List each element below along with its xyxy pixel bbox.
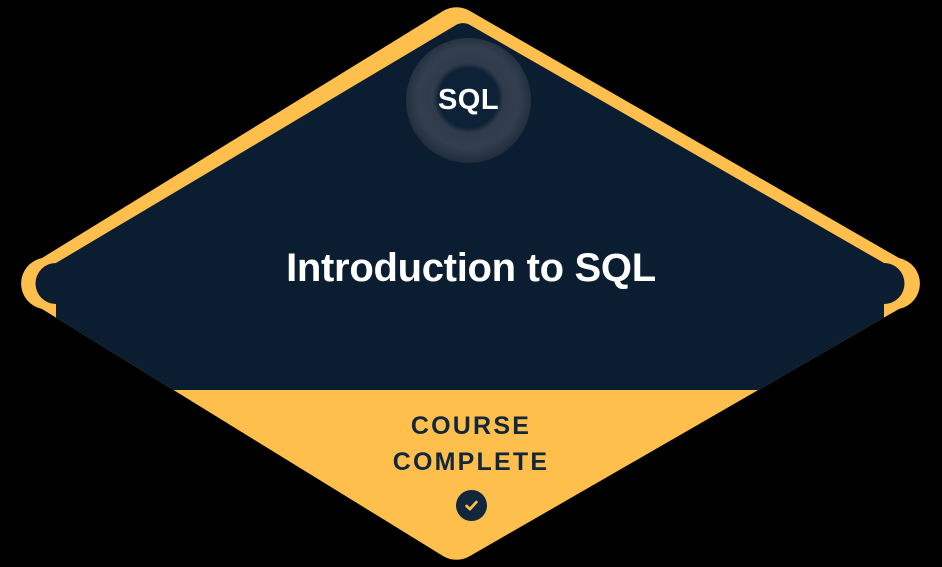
- completion-label-line-2: COMPLETE: [0, 444, 942, 480]
- completion-label-line-1: COURSE: [0, 408, 942, 444]
- sql-emblem: SQL: [406, 38, 531, 163]
- course-completion-badge: SQL Introduction to SQL COURSE COMPLETE: [0, 0, 942, 567]
- check-icon: [456, 490, 487, 521]
- completion-block: COURSE COMPLETE: [0, 408, 942, 521]
- course-title: Introduction to SQL: [0, 246, 942, 290]
- sql-emblem-label: SQL: [438, 86, 499, 115]
